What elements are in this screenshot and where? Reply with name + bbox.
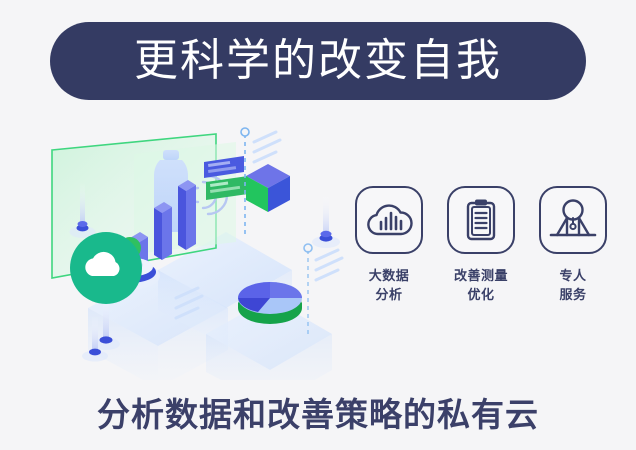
feature-label-line2: 优化	[454, 287, 508, 306]
feature-label-line1: 改善测量	[454, 268, 508, 287]
title-banner: 更科学的改变自我	[50, 22, 586, 100]
feature-label-big-data: 大数据 分析	[369, 268, 410, 306]
cloud-bar-chart-icon	[355, 186, 423, 254]
feature-label-line2: 分析	[369, 287, 410, 306]
feature-item-big-data[interactable]: 大数据 分析	[352, 186, 426, 336]
page-caption: 分析数据和改善策略的私有云	[0, 388, 636, 436]
poster-canvas: 更科学的改变自我	[0, 0, 636, 450]
feature-item-measurement[interactable]: 改善测量 优化	[444, 186, 518, 336]
feature-label-service: 专人 服务	[559, 268, 586, 306]
banner-title: 更科学的改变自我	[134, 39, 502, 83]
feature-label-line1: 专人	[559, 268, 586, 287]
clipboard-icon	[447, 186, 515, 254]
small-cube	[246, 164, 290, 212]
illustration	[30, 120, 360, 380]
feature-label-measurement: 改善测量 优化	[454, 268, 508, 306]
feature-label-line1: 大数据	[369, 268, 410, 287]
service-person-icon	[539, 186, 607, 254]
feature-label-line2: 服务	[559, 287, 586, 306]
3d-pie-chart	[238, 282, 302, 324]
feature-item-service[interactable]: 专人 服务	[536, 186, 610, 336]
feature-list: 大数据 分析 改善测量	[352, 186, 610, 336]
right-pin	[312, 194, 340, 248]
